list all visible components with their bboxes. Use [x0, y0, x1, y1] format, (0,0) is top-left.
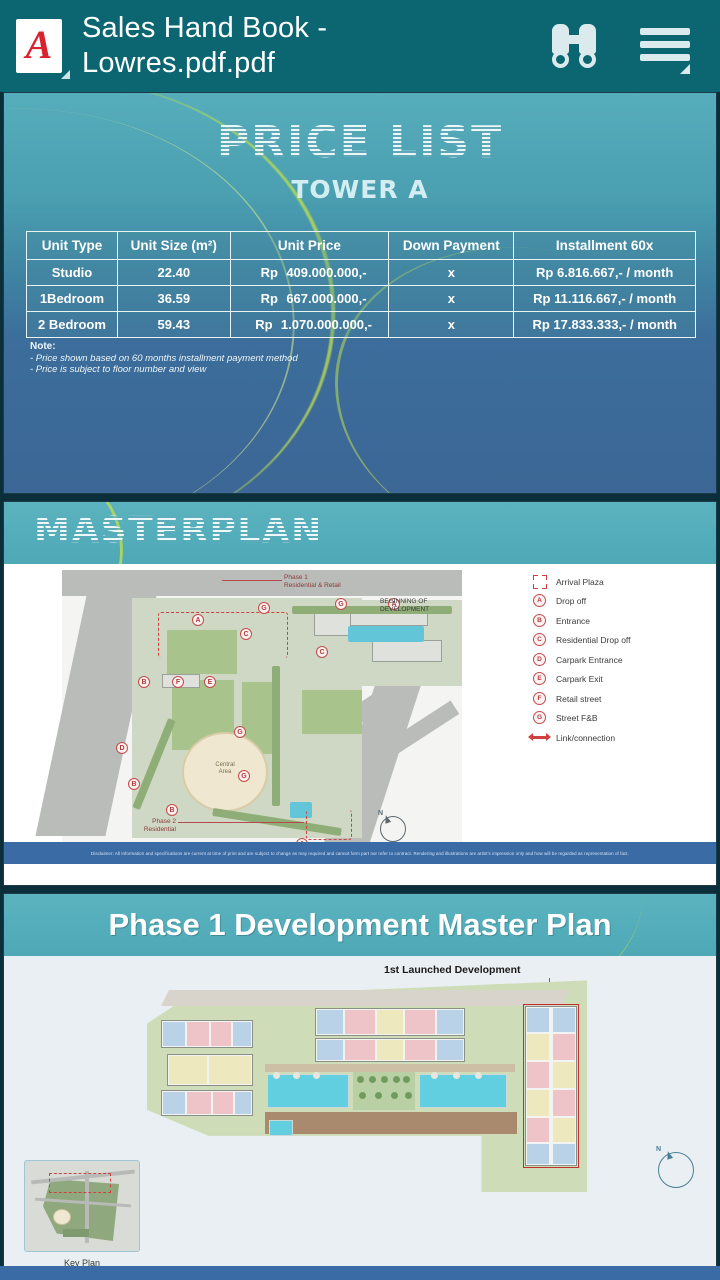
circle-marker-icon: E: [532, 671, 548, 687]
bracket-marker-icon: [532, 574, 548, 590]
legend-label: Carpark Exit: [556, 674, 603, 684]
table-header-row: Unit Type Unit Size (m²) Unit Price Down…: [27, 232, 696, 260]
key-plan: Key Plan: [24, 1160, 140, 1268]
phase1-floor-plan: [147, 976, 587, 1192]
legend-label: Residential Drop off: [556, 635, 631, 645]
phase1-label: Phase 1Residential & Retail: [284, 574, 364, 590]
circle-marker-icon: F: [532, 691, 548, 707]
compass-north-label: N: [656, 1146, 661, 1153]
masterplan-header: MASTERPLAN: [4, 502, 716, 564]
circle-marker-icon: A: [532, 593, 548, 609]
map-marker-g3: G: [234, 726, 246, 738]
map-marker-b2: B: [128, 778, 140, 790]
currency-label: Rp: [252, 265, 286, 280]
cell-unit-price: Rp409.000.000,-: [230, 260, 389, 286]
table-row: 1Bedroom 36.59 Rp667.000.000,- x Rp 11.1…: [27, 286, 696, 312]
th-unit-type: Unit Type: [27, 232, 118, 260]
phase1-body: 1st Launched Development: [4, 956, 716, 1280]
cell-unit-size: 59.43: [117, 312, 230, 338]
beginning-label: BEGINNING OFDEVELOPMENT: [380, 598, 450, 614]
currency-label: Rp: [247, 317, 281, 332]
compass-rose: N: [654, 1148, 698, 1192]
price-value: 1.070.000.000,-: [281, 317, 372, 332]
map-marker-c: C: [240, 628, 252, 640]
circle-marker-icon: G: [532, 710, 548, 726]
legend-label: Arrival Plaza: [556, 577, 604, 587]
th-installment: Installment 60x: [514, 232, 696, 260]
cell-installment: Rp 11.116.667,- / month: [514, 286, 696, 312]
table-row: Studio 22.40 Rp409.000.000,- x Rp 6.816.…: [27, 260, 696, 286]
hamburger-menu-icon[interactable]: [640, 26, 690, 66]
double-arrow-icon: [532, 730, 548, 746]
key-plan-thumbnail: [24, 1160, 140, 1252]
pdf-file-icon: A: [16, 19, 62, 73]
currency-label: Rp: [252, 291, 286, 306]
cell-down-payment: x: [389, 286, 514, 312]
price-table: Unit Type Unit Size (m²) Unit Price Down…: [26, 231, 696, 338]
legend-label: Carpark Entrance: [556, 655, 623, 665]
legend-item-entrance: B Entrance: [532, 611, 712, 631]
page-price-list: PRICE LIST TOWER A Unit Type Unit Size (…: [3, 92, 717, 494]
legend-label: Retail street: [556, 694, 601, 704]
th-unit-price: Unit Price: [230, 232, 389, 260]
map-marker-a: A: [192, 614, 204, 626]
map-marker-b: B: [138, 676, 150, 688]
phase2-label: Phase 2Residential: [122, 818, 176, 834]
binoculars-icon[interactable]: [550, 24, 598, 68]
document-title: Sales Hand Book - Lowres.pdf.pdf: [82, 11, 512, 81]
note-line-1: - Price shown based on 60 months install…: [30, 353, 298, 365]
table-row: 2 Bedroom 59.43 Rp1.070.000.000,- x Rp 1…: [27, 312, 696, 338]
legend-item-carpark-exit: E Carpark Exit: [532, 670, 712, 690]
legend-label: Link/connection: [556, 733, 615, 743]
compass-rose: N: [376, 812, 410, 846]
cell-unit-price: Rp1.070.000.000,-: [230, 312, 389, 338]
pdf-icon-glyph: A: [26, 25, 53, 65]
pdf-document-viewport[interactable]: PRICE LIST TOWER A Unit Type Unit Size (…: [0, 92, 720, 1280]
page-masterplan: MASTERPLAN: [3, 501, 717, 886]
map-marker-d: D: [116, 742, 128, 754]
cell-installment: Rp 6.816.667,- / month: [514, 260, 696, 286]
cell-unit-type: Studio: [27, 260, 118, 286]
legend-item-arrival-plaza: Arrival Plaza: [532, 572, 712, 592]
cell-down-payment: x: [389, 260, 514, 286]
masterplan-title: MASTERPLAN: [34, 510, 323, 551]
legend-item-link-connection: Link/connection: [532, 728, 712, 748]
disclaimer-bar: Disclaimer: All information and specific…: [4, 842, 716, 864]
app-bar: A Sales Hand Book - Lowres.pdf.pdf: [0, 0, 720, 92]
app-bar-actions: [550, 24, 720, 68]
map-marker-g4: G: [238, 770, 250, 782]
legend-label: Entrance: [556, 616, 590, 626]
circle-marker-icon: B: [532, 613, 548, 629]
th-down-payment: Down Payment: [389, 232, 514, 260]
cell-installment: Rp 17.833.333,- / month: [514, 312, 696, 338]
price-value: 409.000.000,-: [286, 265, 366, 280]
map-marker-g2: G: [335, 598, 347, 610]
dogear-icon: [61, 70, 70, 79]
map-marker-f: F: [172, 676, 184, 688]
price-note: Note: - Price shown based on 60 months i…: [30, 341, 298, 376]
cell-unit-price: Rp667.000.000,-: [230, 286, 389, 312]
legend-item-residential-drop-off: C Residential Drop off: [532, 631, 712, 651]
legend-label: Street F&B: [556, 713, 598, 723]
map-marker-g: G: [258, 602, 270, 614]
note-heading: Note:: [30, 341, 298, 353]
legend-item-street-fnb: G Street F&B: [532, 709, 712, 729]
cell-unit-size: 22.40: [117, 260, 230, 286]
launched-tower-highlight: [523, 1004, 579, 1168]
legend-item-carpark-entrance: D Carpark Entrance: [532, 650, 712, 670]
map-marker-b3: B: [166, 804, 178, 816]
phase1-header: Phase 1 Development Master Plan: [4, 894, 716, 956]
disclaimer-text: Disclaimer: All information and specific…: [91, 851, 629, 856]
price-value: 667.000.000,-: [286, 291, 366, 306]
masterplan-body: CentralArea A G C G A C B F E G: [4, 564, 716, 864]
cell-unit-type: 1Bedroom: [27, 286, 118, 312]
cell-unit-size: 36.59: [117, 286, 230, 312]
page-phase1-development: Phase 1 Development Master Plan 1st Laun…: [3, 893, 717, 1280]
legend-item-retail-street: F Retail street: [532, 689, 712, 709]
compass-north-label: N: [378, 810, 383, 817]
launched-development-callout: 1st Launched Development: [384, 964, 521, 976]
masterplan-legend: Arrival Plaza A Drop off B Entrance C Re…: [532, 572, 712, 748]
map-marker-e: E: [204, 676, 216, 688]
circle-marker-icon: C: [532, 632, 548, 648]
note-line-2: - Price is subject to floor number and v…: [30, 364, 298, 376]
cell-down-payment: x: [389, 312, 514, 338]
phase1-title: Phase 1 Development Master Plan: [108, 907, 611, 943]
map-marker-c2: C: [316, 646, 328, 658]
legend-item-drop-off: A Drop off: [532, 592, 712, 612]
legend-label: Drop off: [556, 596, 586, 606]
circle-marker-icon: D: [532, 652, 548, 668]
document-bottom-strip: [0, 1266, 720, 1280]
th-unit-size: Unit Size (m²): [117, 232, 230, 260]
cell-unit-type: 2 Bedroom: [27, 312, 118, 338]
